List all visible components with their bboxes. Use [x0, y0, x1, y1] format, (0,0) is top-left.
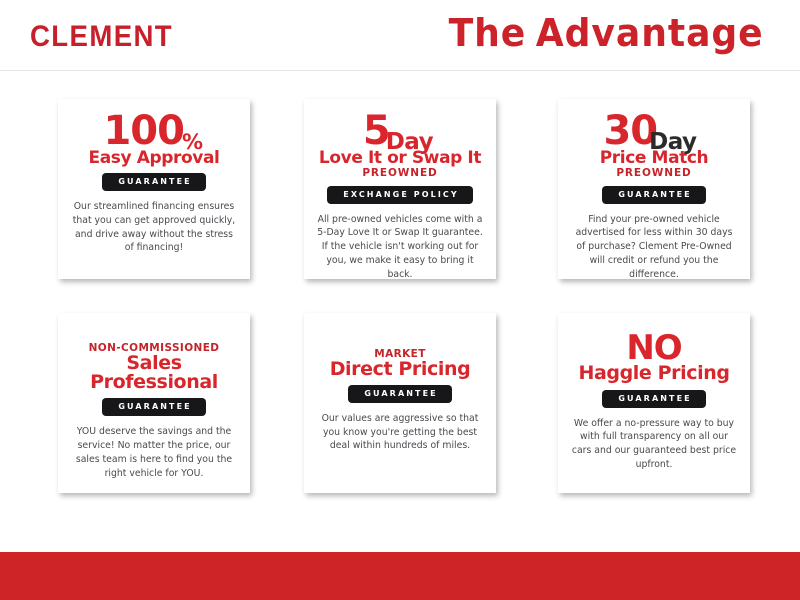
- exchange-policy-badge: EXCHANGE POLICY: [327, 186, 473, 204]
- card-headline-sub: PREOWNED: [314, 168, 486, 180]
- guarantee-badge: GUARANTEE: [602, 390, 705, 408]
- card-badge-wrap: GUARANTEE: [68, 173, 240, 191]
- card-headline-big: NO: [626, 333, 681, 364]
- card-body-text: Our streamlined financing ensures that y…: [70, 200, 238, 255]
- advantage-card-easy-approval[interactable]: 100% Easy Approval GUARANTEE Our streaml…: [58, 99, 250, 279]
- card-badge-wrap: GUARANTEE: [568, 186, 740, 204]
- card-headline-spacer: [68, 327, 240, 343]
- advantage-card-grid: 100% Easy Approval GUARANTEE Our streaml…: [0, 71, 800, 552]
- card-headline-mid: Direct Pricing: [314, 360, 486, 379]
- card-headline-spacer: [314, 327, 486, 349]
- guarantee-badge: GUARANTEE: [102, 173, 205, 191]
- advantage-card-five-day-swap[interactable]: 5Day Love It or Swap It PREOWNED EXCHANG…: [304, 99, 496, 279]
- card-headline-suffix: Day: [649, 129, 696, 155]
- card-badge-wrap: GUARANTEE: [68, 398, 240, 416]
- card-headline: 100%: [68, 113, 240, 150]
- card-body-text: YOU deserve the savings and the service!…: [70, 425, 238, 480]
- clement-logo[interactable]: CLEMENT: [30, 22, 173, 52]
- card-badge-wrap: GUARANTEE: [314, 385, 486, 403]
- card-headline-suffix: Day: [386, 129, 433, 155]
- card-headline-suffix: %: [182, 130, 203, 154]
- footer-brand-bar: [0, 552, 800, 600]
- page-title-word-2: Advantage: [536, 11, 764, 55]
- card-headline-big: 100: [103, 113, 184, 150]
- advantage-card-sales-professional[interactable]: NON-COMMISSIONED Sales Professional GUAR…: [58, 313, 250, 493]
- card-body-text: Find your pre-owned vehicle advertised f…: [570, 213, 738, 282]
- page-header: CLEMENT TheAdvantage: [0, 0, 800, 71]
- card-badge-wrap: GUARANTEE: [568, 390, 740, 408]
- card-body-text: All pre-owned vehicles come with a 5-Day…: [316, 213, 484, 282]
- advantage-card-market-direct-pricing[interactable]: MARKET Direct Pricing GUARANTEE Our valu…: [304, 313, 496, 493]
- card-headline-mid: Haggle Pricing: [568, 364, 740, 383]
- advantage-card-no-haggle-pricing[interactable]: NO Haggle Pricing GUARANTEE We offer a n…: [558, 313, 750, 493]
- guarantee-badge: GUARANTEE: [602, 186, 705, 204]
- card-headline-mid: Easy Approval: [68, 150, 240, 167]
- card-headline-sub: PREOWNED: [568, 168, 740, 180]
- card-badge-wrap: EXCHANGE POLICY: [314, 186, 486, 204]
- card-headline-mid: Sales Professional: [68, 354, 240, 393]
- page-title: TheAdvantage: [449, 14, 764, 52]
- card-headline: 5Day: [314, 113, 486, 150]
- page-title-word-1: The: [449, 11, 527, 55]
- card-body-text: Our values are aggressive so that you kn…: [316, 412, 484, 453]
- guarantee-badge: GUARANTEE: [348, 385, 451, 403]
- advantage-card-thirty-day-price-match[interactable]: 30Day Price Match PREOWNED GUARANTEE Fin…: [558, 99, 750, 279]
- card-headline: 30Day: [568, 113, 740, 150]
- card-body-text: We offer a no-pressure way to buy with f…: [570, 417, 738, 472]
- card-headline: NO: [568, 333, 740, 364]
- guarantee-badge: GUARANTEE: [102, 398, 205, 416]
